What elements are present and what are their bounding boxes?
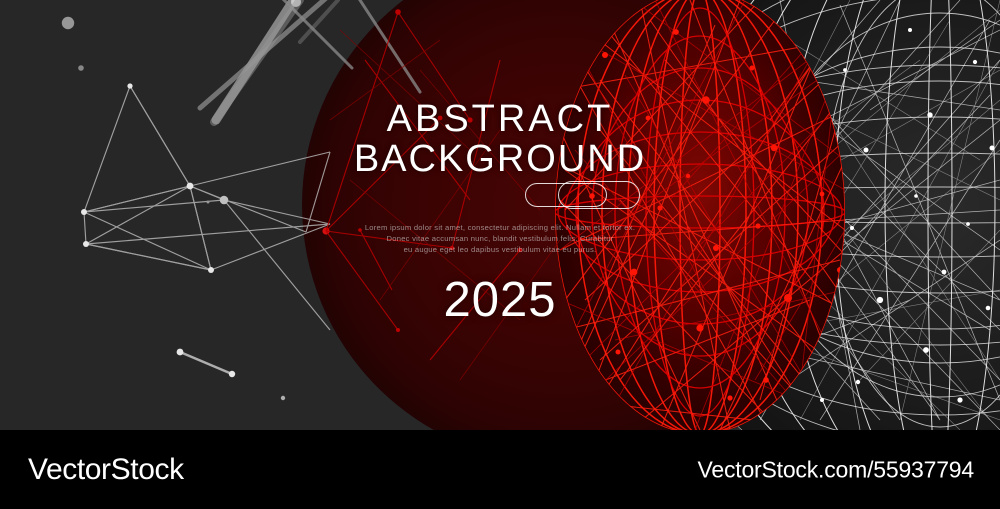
vectorstock-logo-text: VectorStock bbox=[28, 453, 184, 487]
abstract-network-illustration bbox=[0, 0, 1000, 430]
vectorstock-asset-url: VectorStock.com/55937794 bbox=[698, 456, 975, 483]
red-wireframe-sphere bbox=[555, 0, 845, 430]
vectorstock-footer-bar: VectorStock VectorStock.com/55937794 bbox=[0, 430, 1000, 509]
artwork-canvas: ABSTRACT BACKGROUND Lorem ipsum dolor si… bbox=[0, 0, 1000, 430]
screenshot-root: ABSTRACT BACKGROUND Lorem ipsum dolor si… bbox=[0, 0, 1000, 509]
